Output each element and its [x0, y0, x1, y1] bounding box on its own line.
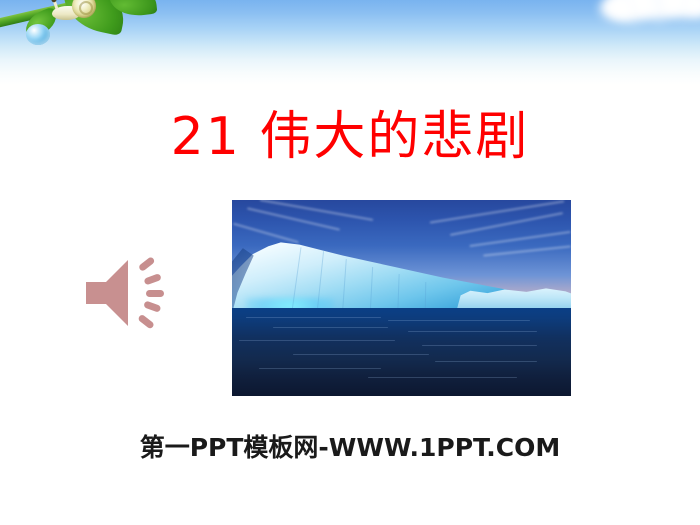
water-ripple [259, 368, 381, 369]
water-ripple [239, 340, 395, 341]
photo-ocean [232, 308, 571, 396]
presentation-slide: 21 伟大的悲剧 [0, 0, 700, 525]
water-ripple [368, 377, 517, 378]
water-ripple [435, 361, 537, 362]
cloud-icon [600, 0, 700, 30]
water-droplet-icon [26, 24, 50, 45]
water-ripple [422, 345, 537, 346]
water-ripple [388, 320, 530, 321]
water-ripple [273, 327, 388, 328]
water-ripple [408, 331, 537, 332]
footer-watermark: 第一PPT模板网-WWW.1PPT.COM [0, 432, 700, 464]
cirrus-streak [429, 201, 563, 224]
cirrus-streak [470, 230, 571, 246]
water-ripple [293, 354, 429, 355]
water-ripple [246, 317, 382, 318]
iceberg-photo [232, 200, 571, 396]
slide-title: 21 伟大的悲剧 [0, 106, 700, 168]
cirrus-streak [260, 200, 374, 221]
cirrus-streak [483, 245, 571, 256]
speaker-icon[interactable] [84, 252, 174, 334]
vine-decoration [0, 0, 150, 48]
cirrus-streak [233, 223, 299, 244]
speaker-icon-glyph [84, 252, 174, 334]
